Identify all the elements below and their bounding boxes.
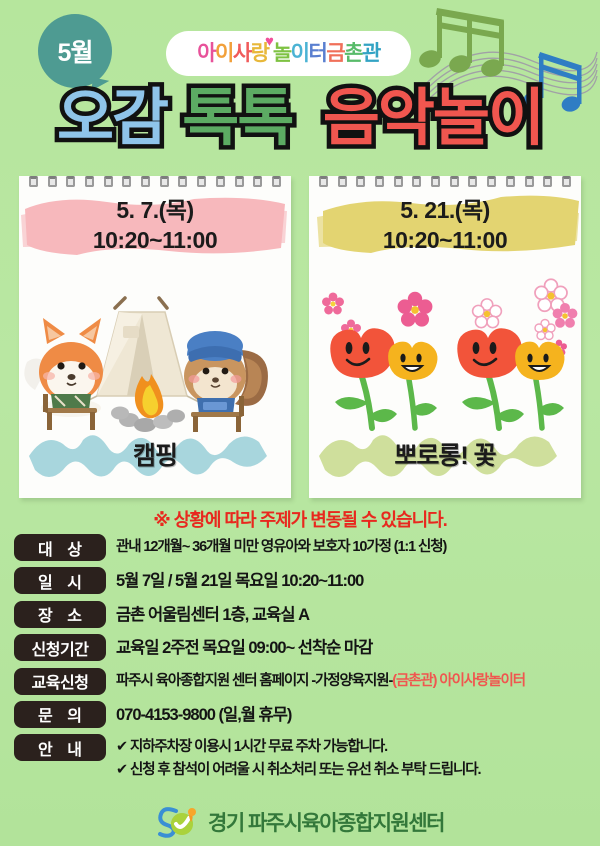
info-label-target: 대 상 [14,534,106,561]
info-value-location: 금촌 어울림센터 1층, 교육실 A [116,601,594,629]
fox-character [24,318,103,430]
event-cards: 5. 7.(목) 10:20~11:00 [0,176,600,498]
flowers-illustration [309,268,581,436]
card-date-camping: 5. 7.(목) 10:20~11:00 [19,196,291,256]
poster-header: 5월 ♥아이사랑 놀이터금촌관 [0,0,600,172]
application-plain: 파주시 육아종합지원 센터 홈페이지 -가정양육지원- [116,673,392,689]
info-label-period: 신청기간 [14,634,106,661]
flower-pair-left [330,328,437,428]
guide-line-2: ✔ 신청 후 참석이 어려울 시 취소처리 또는 유선 취소 부탁 드립니다. [116,759,594,781]
event-card-flowers: 5. 21.(목) 10:20~11:00 [309,176,581,498]
info-row-application: 교육신청 파주시 육아종합지원 센터 홈페이지 -가정양육지원-(금촌관) 아이… [14,668,594,695]
title-part-1: 톡톡 [182,84,292,153]
flower-pair-right [457,328,564,428]
card-time-camping: 10:20~11:00 [93,227,217,253]
card-label-flowers: 뽀로롱! 꽃 [309,436,581,472]
info-value-datetime: 5월 7일 / 5월 21일 목요일 10:20~11:00 [116,567,594,595]
info-value-contact: 070-4153-9800 (일,월 휴무) [116,701,594,729]
squirrel-character [184,331,268,432]
info-label-application: 교육신청 [14,668,106,695]
info-value-application: 파주시 육아종합지원 센터 홈페이지 -가정양육지원-(금촌관) 아이사랑놀이터 [116,668,594,692]
info-row-contact: 문 의 070-4153-9800 (일,월 휴무) [14,701,594,729]
sc-swoosh-logo-icon [156,806,200,838]
guide-line-1: ✔ 지하주차장 이용시 1시간 무료 주차 가능합니다. [116,736,594,758]
organization-name: 경기 파주시육아종합지원센터 [208,807,444,837]
brand-logo: ♥아이사랑 놀이터금촌관 [166,31,411,76]
title-part-0: 오감 [57,84,167,153]
info-label-location: 장 소 [14,601,106,628]
info-value-period: 교육일 2주전 목요일 09:00~ 선착순 마감 [116,634,594,662]
brand-logo-text: ♥아이사랑 놀이터금촌관 [197,43,380,64]
info-label-datetime: 일 시 [14,567,106,594]
spiral-binding-icon [19,176,291,189]
info-value-target: 관내 12개월~ 36개월 미만 영유아와 보호자 10가정 (1:1 신청) [116,534,594,558]
application-highlight: (금촌관) 아이사랑놀이터 [392,673,525,689]
info-row-guide: 안 내 ✔ 지하주차장 이용시 1시간 무료 주차 가능합니다. ✔ 신청 후 … [14,734,594,781]
event-card-camping: 5. 7.(목) 10:20~11:00 [19,176,291,498]
spiral-binding-icon [309,176,581,189]
info-row-datetime: 일 시 5월 7일 / 5월 21일 목요일 10:20~11:00 [14,567,594,595]
info-label-guide: 안 내 [14,734,106,761]
organization-footer: 경기 파주시육아종합지원센터 [0,806,600,838]
camping-illustration [19,268,291,436]
info-table: 대 상 관내 12개월~ 36개월 미만 영유아와 보호자 10가정 (1:1 … [14,534,594,787]
card-label-camping: 캠핑 [19,436,291,472]
info-label-contact: 문 의 [14,701,106,728]
notice-text: ※ 상황에 따라 주제가 변동될 수 있습니다. [0,506,600,532]
month-badge: 5월 [38,14,112,88]
green-triple-note-icon [417,8,505,79]
info-value-guide: ✔ 지하주차장 이용시 1시간 무료 주차 가능합니다. ✔ 신청 후 참석이 … [116,734,594,781]
info-row-location: 장 소 금촌 어울림센터 1층, 교육실 A [14,601,594,629]
month-badge-label: 5월 [58,33,93,69]
card-date-flowers: 5. 21.(목) 10:20~11:00 [309,196,581,256]
info-row-period: 신청기간 교육일 2주전 목요일 09:00~ 선착순 마감 [14,634,594,662]
card-time-flowers: 10:20~11:00 [383,227,507,253]
heart-icon: ♥ [265,34,272,49]
page-title: 오감 톡톡 음악놀이 [0,88,600,150]
title-part-2: 음악놀이 [323,84,543,153]
info-row-target: 대 상 관내 12개월~ 36개월 미만 영유아와 보호자 10가정 (1:1 … [14,534,594,561]
